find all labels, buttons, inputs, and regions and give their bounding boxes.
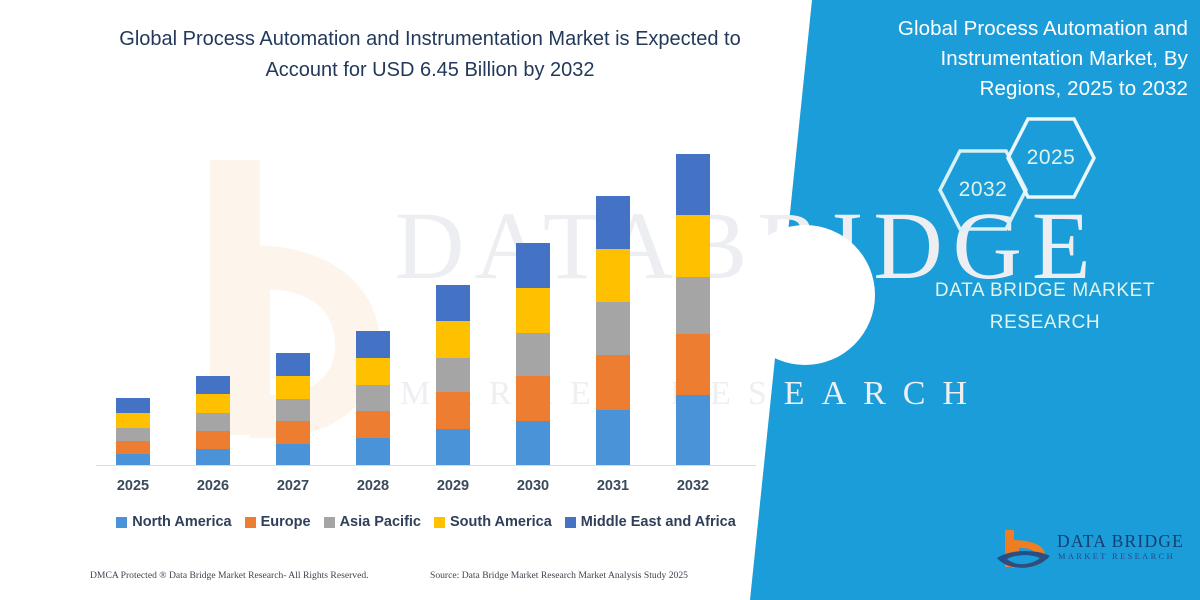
bar-segment-south-america: [596, 249, 630, 302]
legend-label: Asia Pacific: [340, 514, 421, 530]
bar-segment-south-america: [356, 358, 390, 385]
x-label-2027: 2027: [258, 478, 328, 494]
bar-segment-asia-pacific: [516, 333, 550, 376]
data-bridge-logo: DATA BRIDGE MARKET RESEARCH: [995, 525, 1185, 577]
panel-brand-line1: DATA BRIDGE MARKET: [900, 275, 1190, 307]
bar-segment-europe: [676, 334, 710, 395]
bar-segment-south-america: [516, 288, 550, 333]
legend-item-north-america[interactable]: North America: [116, 514, 231, 530]
bar-segment-europe: [116, 441, 150, 454]
bar-segment-north-america: [356, 438, 390, 465]
x-label-2029: 2029: [418, 478, 488, 494]
legend-swatch-icon: [434, 517, 445, 528]
bar-segment-middle-east-and-africa: [436, 285, 470, 321]
hexagon-label-left: 2032: [959, 178, 1008, 202]
bar-segment-middle-east-and-africa: [116, 398, 150, 413]
legend-label: South America: [450, 514, 552, 530]
legend-item-south-america[interactable]: South America: [434, 514, 552, 530]
chart-legend: North AmericaEuropeAsia PacificSouth Ame…: [96, 514, 756, 530]
bar-2031: [596, 196, 630, 465]
bar-2030: [516, 243, 550, 465]
legend-swatch-icon: [116, 517, 127, 528]
bar-segment-south-america: [116, 413, 150, 428]
bar-segment-north-america: [276, 444, 310, 465]
bar-segment-middle-east-and-africa: [516, 243, 550, 288]
bar-segment-middle-east-and-africa: [676, 154, 710, 215]
bar-segment-asia-pacific: [676, 277, 710, 334]
bar-2025: [116, 398, 150, 465]
x-label-2025: 2025: [98, 478, 168, 494]
infographic-root: DATABRIDGE MARKET RESEARCH Global Proces…: [0, 0, 1200, 600]
logo-mark-icon: [995, 527, 1053, 575]
x-label-2032: 2032: [658, 478, 728, 494]
bar-segment-south-america: [436, 321, 470, 358]
bar-segment-europe: [276, 421, 310, 444]
x-label-2026: 2026: [178, 478, 248, 494]
bar-segment-europe: [596, 355, 630, 410]
panel-brand-line2: RESEARCH: [900, 307, 1190, 339]
x-axis-line: [96, 465, 756, 466]
legend-item-middle-east-and-africa[interactable]: Middle East and Africa: [565, 514, 736, 530]
legend-swatch-icon: [565, 517, 576, 528]
bar-segment-asia-pacific: [276, 399, 310, 421]
bar-2026: [196, 376, 230, 465]
bar-segment-middle-east-and-africa: [276, 353, 310, 376]
footer-copyright: DMCA Protected ® Data Bridge Market Rese…: [90, 570, 369, 581]
bar-segment-europe: [436, 392, 470, 429]
x-label-2030: 2030: [498, 478, 568, 494]
bar-2028: [356, 331, 390, 465]
legend-item-asia-pacific[interactable]: Asia Pacific: [324, 514, 421, 530]
bar-segment-europe: [356, 411, 390, 438]
x-label-2031: 2031: [578, 478, 648, 494]
logo-subtitle: MARKET RESEARCH: [1058, 552, 1175, 561]
logo-wordmark: DATA BRIDGE: [1057, 531, 1184, 552]
bar-segment-south-america: [276, 376, 310, 399]
bar-segment-middle-east-and-africa: [196, 376, 230, 394]
bar-segment-asia-pacific: [116, 428, 150, 441]
footer-source: Source: Data Bridge Market Research Mark…: [430, 570, 688, 581]
bar-2029: [436, 285, 470, 465]
hexagon-badge-2025: 2025: [1005, 116, 1097, 200]
bar-segment-north-america: [516, 421, 550, 465]
panel-title: Global Process Automation and Instrument…: [858, 14, 1188, 104]
bar-segment-north-america: [196, 449, 230, 465]
bar-segment-south-america: [196, 394, 230, 413]
bar-segment-north-america: [676, 395, 710, 465]
bar-segment-middle-east-and-africa: [356, 331, 390, 358]
bar-2027: [276, 353, 310, 465]
legend-label: Middle East and Africa: [581, 514, 736, 530]
bar-segment-europe: [196, 431, 230, 449]
legend-item-europe[interactable]: Europe: [245, 514, 311, 530]
legend-label: Europe: [261, 514, 311, 530]
bar-2032: [676, 154, 710, 465]
hexagon-label-right: 2025: [1027, 146, 1076, 170]
bar-segment-europe: [516, 376, 550, 421]
bar-segment-north-america: [596, 410, 630, 465]
bar-segment-asia-pacific: [596, 302, 630, 355]
bar-segment-south-america: [676, 215, 710, 277]
bar-segment-north-america: [116, 454, 150, 465]
legend-swatch-icon: [324, 517, 335, 528]
bar-segment-north-america: [436, 429, 470, 465]
bar-segment-asia-pacific: [436, 358, 470, 392]
stacked-bar-chart: 20252026202720282029203020312032: [0, 0, 790, 600]
panel-brand: DATA BRIDGE MARKET RESEARCH: [900, 275, 1190, 339]
bar-segment-asia-pacific: [356, 385, 390, 411]
x-label-2028: 2028: [338, 478, 408, 494]
bar-segment-middle-east-and-africa: [596, 196, 630, 249]
bar-segment-asia-pacific: [196, 413, 230, 431]
legend-label: North America: [132, 514, 231, 530]
legend-swatch-icon: [245, 517, 256, 528]
